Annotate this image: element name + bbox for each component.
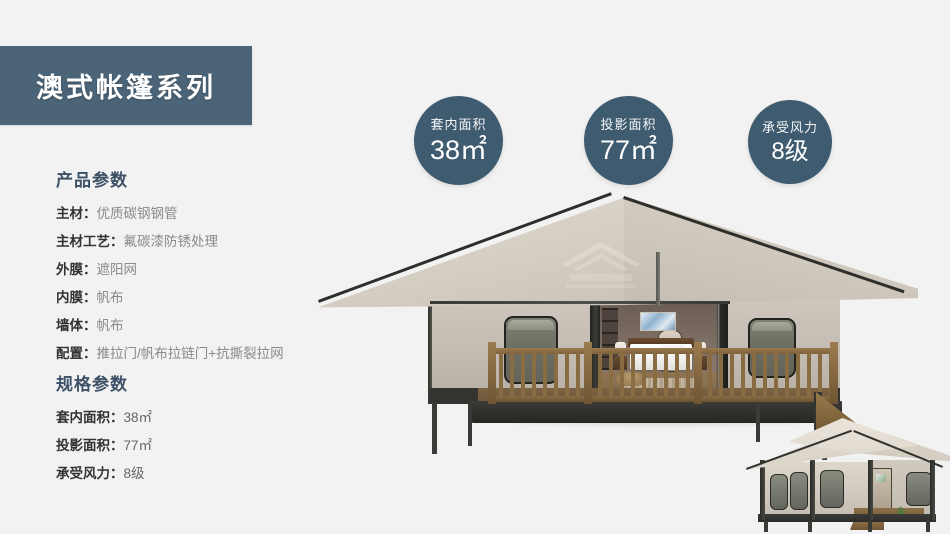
spec-label: 套内面积：	[56, 410, 124, 425]
railing-post	[830, 342, 838, 404]
small-tent-door-artwork	[876, 474, 886, 482]
spec-row: 配置：推拉门/帆布拉链门+抗撕裂拉网	[56, 340, 284, 368]
secondary-tent-illustration	[744, 418, 950, 534]
support-leg	[432, 402, 437, 454]
spec-label: 主材工艺：	[56, 234, 124, 249]
spec-value: 77㎡	[124, 438, 153, 453]
page-root: 澳式帐篷系列 产品参数 主材：优质碳钢钢管 主材工艺：氟碳漆防锈处理 外膜：遮阳…	[0, 0, 950, 534]
spec-row: 套内面积：38㎡	[56, 404, 152, 432]
title-banner: 澳式帐篷系列	[0, 46, 252, 125]
spec-label: 承受风力：	[56, 466, 124, 481]
small-tent-column	[868, 460, 873, 520]
spec-label: 主材：	[56, 206, 97, 221]
spec-value: 优质碳钢钢管	[97, 206, 178, 221]
small-tent-window	[790, 472, 808, 510]
small-tent-base	[758, 514, 936, 522]
roof-ridge	[430, 301, 730, 304]
small-tent-column	[760, 460, 765, 520]
small-tent-leg	[764, 521, 768, 532]
spec-row: 内膜：帆布	[56, 284, 284, 312]
spec-label: 墙体：	[56, 318, 97, 333]
small-tent-window	[820, 470, 844, 508]
railing-post	[584, 342, 592, 404]
spec-label: 配置：	[56, 346, 97, 361]
interior-artwork	[640, 312, 676, 331]
product-parameters-section: 产品参数 主材：优质碳钢钢管 主材工艺：氟碳漆防锈处理 外膜：遮阳网 内膜：帆布…	[56, 166, 284, 368]
badge-value: 8级	[771, 140, 808, 164]
spec-value: 遮阳网	[97, 262, 138, 277]
size-parameters-heading: 规格参数	[56, 370, 152, 395]
spec-label: 内膜：	[56, 290, 97, 305]
page-title: 澳式帐篷系列	[36, 66, 216, 105]
spec-value: 推拉门/帆布拉链门+抗撕裂拉网	[97, 346, 284, 361]
spec-label: 外膜：	[56, 262, 97, 277]
spec-value: 8级	[124, 466, 145, 481]
support-leg	[468, 402, 472, 446]
small-tent-leg	[808, 521, 812, 532]
spec-value: 帆布	[97, 290, 124, 305]
spec-row: 投影面积：77㎡	[56, 432, 152, 460]
spec-row: 承受风力：8级	[56, 460, 152, 488]
small-tent-leg	[868, 521, 872, 532]
railing-post	[694, 342, 702, 404]
spec-value: 帆布	[97, 318, 124, 333]
badge-label: 投影面积	[600, 118, 656, 131]
badge-value: 38㎡	[430, 137, 487, 164]
badge-wind-resistance: 承受风力 8级	[748, 100, 832, 184]
spec-row: 主材工艺：氟碳漆防锈处理	[56, 228, 284, 256]
roof-mast	[656, 252, 660, 306]
main-tent-illustration	[318, 196, 918, 456]
badge-inner-area: 套内面积 38㎡	[414, 96, 503, 185]
badge-label: 套内面积	[430, 118, 486, 131]
railing-post	[488, 342, 496, 404]
size-parameters-section: 规格参数 套内面积：38㎡ 投影面积：77㎡ 承受风力：8级	[56, 370, 152, 488]
roof-plane-left	[318, 196, 628, 312]
spec-row: 外膜：遮阳网	[56, 256, 284, 284]
badge-label: 承受风力	[762, 121, 818, 134]
deck-railing	[488, 348, 838, 404]
small-tent-column	[810, 460, 815, 520]
spec-label: 投影面积：	[56, 438, 124, 453]
spec-value: 38㎡	[124, 410, 153, 425]
small-tent-leg	[926, 521, 930, 532]
small-tent-window	[770, 474, 788, 510]
badge-value: 77㎡	[600, 137, 657, 164]
spec-row: 墙体：帆布	[56, 312, 284, 340]
spec-row: 主材：优质碳钢钢管	[56, 200, 284, 228]
product-parameters-heading: 产品参数	[56, 166, 284, 191]
railing-bottom-rail	[488, 396, 838, 402]
railing-balusters	[488, 353, 838, 397]
spec-value: 氟碳漆防锈处理	[124, 234, 219, 249]
badge-projected-area: 投影面积 77㎡	[584, 96, 673, 185]
small-tent-column	[930, 460, 935, 520]
